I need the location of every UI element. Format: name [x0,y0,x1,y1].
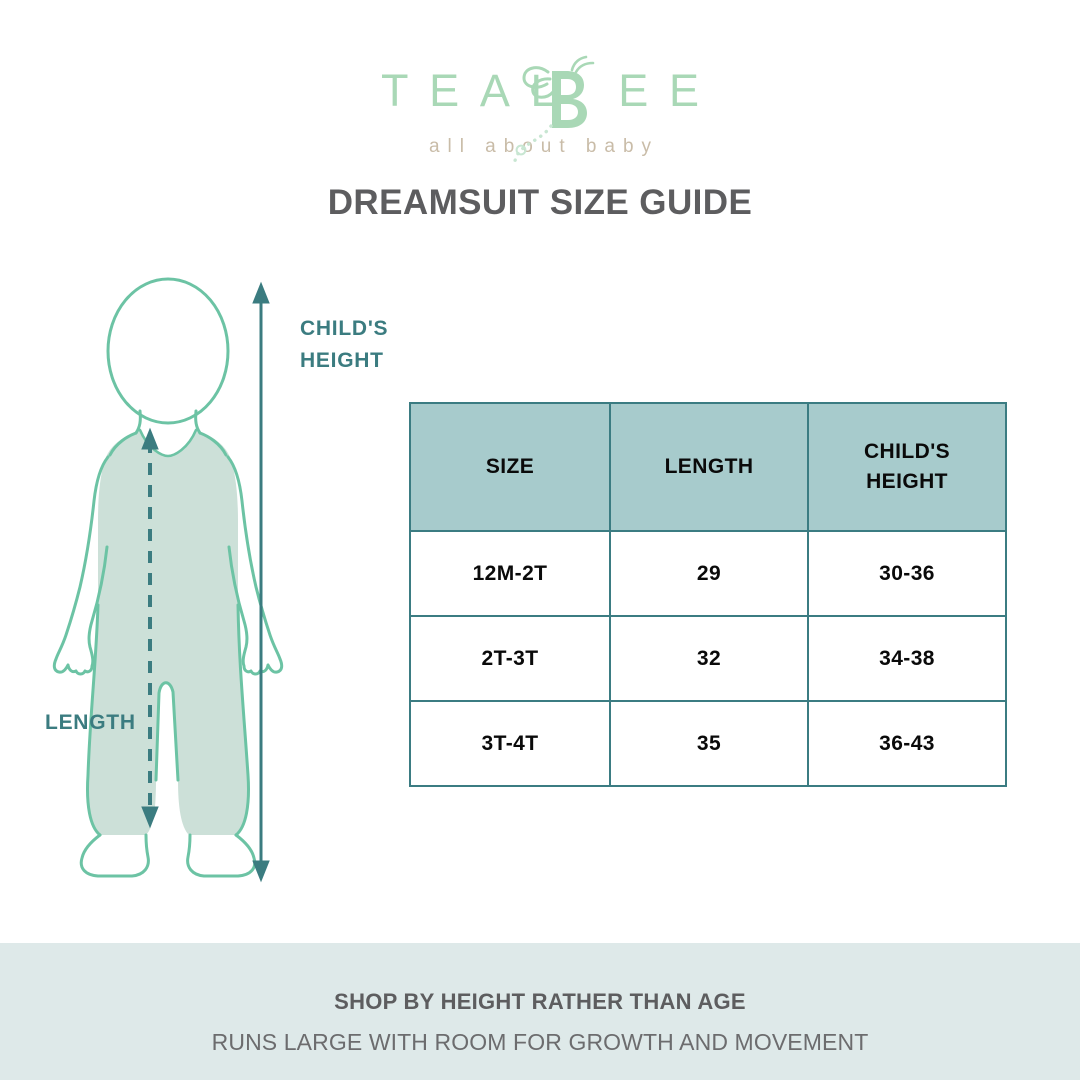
column-header-childs-height-line1: CHILD'S [810,437,1004,467]
cell-size: 3T-4T [410,701,610,786]
column-header-childs-height: CHILD'S HEIGHT [808,403,1006,531]
childs-height-label-line1: CHILD'S [300,313,388,345]
brand-name-part1: TEAL [381,65,576,116]
length-label: LENGTH [45,707,136,739]
childs-height-label-line2: HEIGHT [300,345,388,377]
brand-logo: TEALEE all about baby [0,60,1080,158]
column-header-length: LENGTH [610,403,808,531]
dreamsuit-fill [88,430,249,835]
table-body: 12M-2T 29 30-36 2T-3T 32 34-38 3T-4T 35 … [410,531,1006,786]
column-header-size: SIZE [410,403,610,531]
cell-length: 35 [610,701,808,786]
cell-childs-height: 36-43 [808,701,1006,786]
size-chart-table: SIZE LENGTH CHILD'S HEIGHT 12M-2T 29 30-… [409,402,1007,787]
cell-childs-height: 30-36 [808,531,1006,616]
table-header-row: SIZE LENGTH CHILD'S HEIGHT [410,403,1006,531]
table-row: 2T-3T 32 34-38 [410,616,1006,701]
footer-primary-text: SHOP BY HEIGHT RATHER THAN AGE [0,989,1080,1015]
brand-name-part2: EE [618,65,719,116]
brand-wordmark: TEALEE [360,60,719,122]
footer-banner: SHOP BY HEIGHT RATHER THAN AGE RUNS LARG… [0,943,1080,1080]
childs-height-label: CHILD'S HEIGHT [300,313,388,377]
page-title: DREAMSUIT SIZE GUIDE [0,183,1080,223]
column-header-length-text: LENGTH [665,455,754,478]
table-row: 3T-4T 35 36-43 [410,701,1006,786]
cell-size: 2T-3T [410,616,610,701]
column-header-childs-height-line2: HEIGHT [810,467,1004,497]
footer-secondary-text: RUNS LARGE WITH ROOM FOR GROWTH AND MOVE… [0,1029,1080,1056]
cell-length: 32 [610,616,808,701]
cell-size: 12M-2T [410,531,610,616]
brand-tagline: all about baby [0,136,1080,158]
cell-length: 29 [610,531,808,616]
column-header-size-text: SIZE [486,455,534,478]
table-header: SIZE LENGTH CHILD'S HEIGHT [410,403,1006,531]
cell-childs-height: 34-38 [808,616,1006,701]
baby-measurement-illustration: CHILD'S HEIGHT LENGTH [28,275,408,895]
table-row: 12M-2T 29 30-36 [410,531,1006,616]
